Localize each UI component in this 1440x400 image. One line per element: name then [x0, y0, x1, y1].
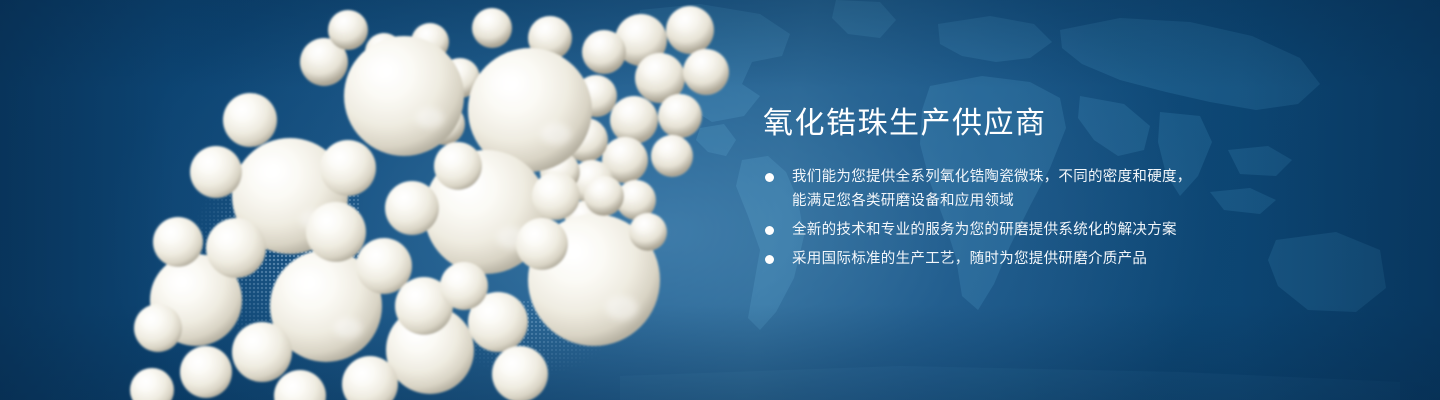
list-item: 全新的技术和专业的服务为您的研磨提供系统化的解决方案 — [763, 218, 1363, 242]
bullet-line: 全新的技术和专业的服务为您的研磨提供系统化的解决方案 — [792, 218, 1363, 242]
banner-headline: 氧化锆珠生产供应商 — [763, 104, 1363, 144]
bullet-dot-icon — [765, 173, 774, 182]
banner-copy-block: 氧化锆珠生产供应商 我们能为您提供全系列氧化锆陶瓷微珠，不同的密度和硬度， 能满… — [763, 104, 1363, 271]
banner-bullet-list: 我们能为您提供全系列氧化锆陶瓷微珠，不同的密度和硬度， 能满足您各类研磨设备和应… — [763, 165, 1363, 271]
bullet-line: 我们能为您提供全系列氧化锆陶瓷微珠，不同的密度和硬度， — [792, 165, 1363, 189]
bullet-line: 能满足您各类研磨设备和应用领域 — [792, 189, 1363, 213]
bullet-line: 采用国际标准的生产工艺，随时为您提供研磨介质产品 — [792, 247, 1363, 271]
zirconia-beads-product-image — [0, 0, 800, 400]
hero-banner: 氧化锆珠生产供应商 我们能为您提供全系列氧化锆陶瓷微珠，不同的密度和硬度， 能满… — [0, 0, 1440, 400]
bullet-dot-icon — [765, 255, 774, 264]
bullet-dot-icon — [765, 226, 774, 235]
list-item: 我们能为您提供全系列氧化锆陶瓷微珠，不同的密度和硬度， 能满足您各类研磨设备和应… — [763, 165, 1363, 213]
list-item: 采用国际标准的生产工艺，随时为您提供研磨介质产品 — [763, 247, 1363, 271]
